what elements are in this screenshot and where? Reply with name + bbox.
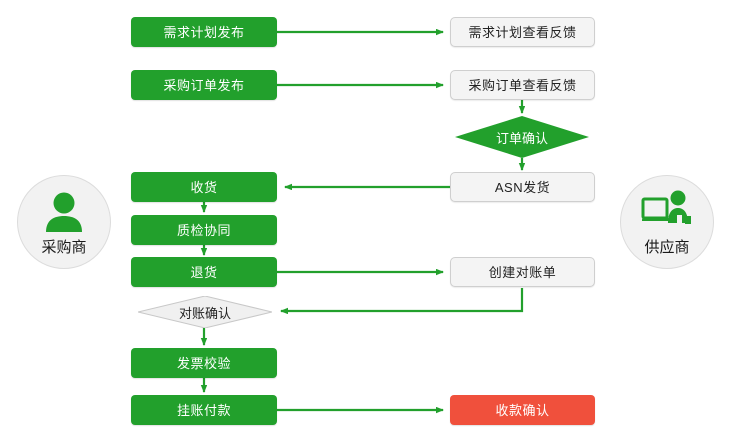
actor-buyer-label: 采购商 [41,236,86,257]
node-label: 挂账付款 [177,404,231,417]
flowchart-canvas: 采购商 供应商 需求计划发布 需求计划查看反馈 采购订单发布 采购订单查看反馈 [0,0,731,436]
node-label: 采购订单发布 [163,79,244,92]
node-label: ASN发货 [495,181,550,194]
node-label: 订单确认 [496,128,548,147]
person-icon [42,190,86,234]
node-label: 采购订单查看反馈 [468,79,576,92]
node-label: 需求计划查看反馈 [468,26,576,39]
node-label: 质检协同 [177,224,231,237]
node-label: 退货 [190,266,217,279]
node-label: 创建对账单 [489,266,557,279]
actor-supplier-label: 供应商 [644,236,689,257]
node-return-goods[interactable]: 退货 [131,257,277,287]
actor-buyer[interactable]: 采购商 [17,175,111,269]
node-receive-goods[interactable]: 收货 [131,172,277,202]
node-label: 对账确认 [179,303,231,322]
node-label: 收款确认 [495,404,549,417]
node-payable-payment[interactable]: 挂账付款 [131,395,277,425]
node-receipt-confirm[interactable]: 收款确认 [450,395,595,425]
node-demand-plan-publish[interactable]: 需求计划发布 [131,17,277,47]
node-label: 收货 [190,181,217,194]
node-order-confirm[interactable]: 订单确认 [455,116,589,158]
node-label: 需求计划发布 [163,26,244,39]
node-create-statement[interactable]: 创建对账单 [450,257,595,287]
node-po-feedback[interactable]: 采购订单查看反馈 [450,70,595,100]
node-label: 发票校验 [177,357,231,370]
node-statement-confirm[interactable]: 对账确认 [138,296,272,328]
node-demand-plan-feedback[interactable]: 需求计划查看反馈 [450,17,595,47]
edge-statement-confirm [281,288,522,311]
node-invoice-check[interactable]: 发票校验 [131,348,277,378]
node-qc-collab[interactable]: 质检协同 [131,215,277,245]
person-at-computer-icon [641,190,693,234]
actor-supplier[interactable]: 供应商 [620,175,714,269]
node-po-publish[interactable]: 采购订单发布 [131,70,277,100]
node-asn-shipment[interactable]: ASN发货 [450,172,595,202]
